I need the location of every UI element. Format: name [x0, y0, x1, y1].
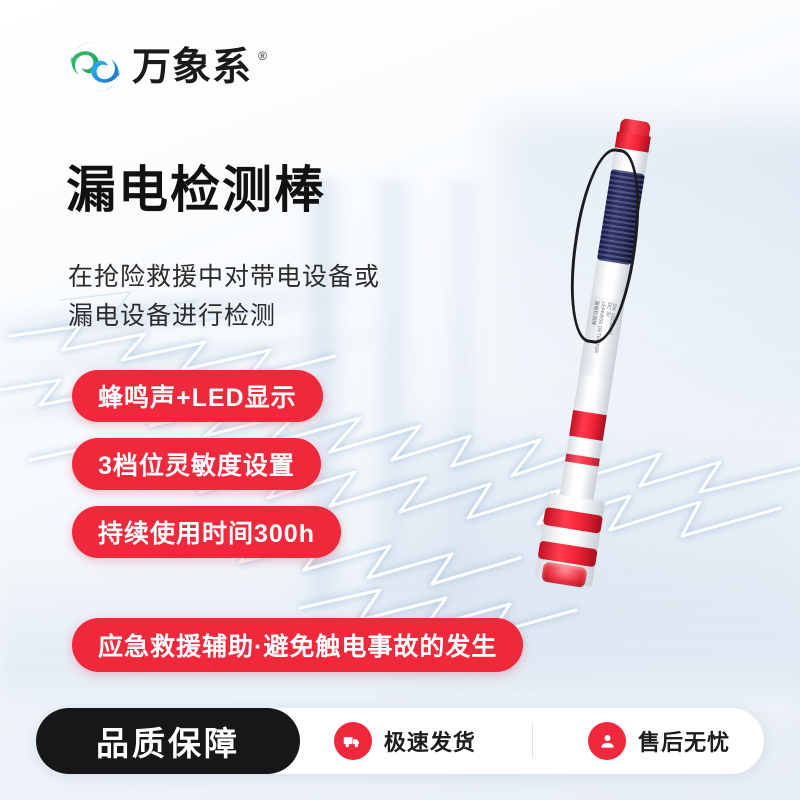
- bar-divider: [532, 724, 533, 758]
- page-subtitle-line1: 在抢险救援中对带电设备或: [68, 258, 380, 297]
- trust-items: 极速发货 售后无忧: [300, 722, 764, 760]
- background-pillar: [440, 180, 486, 610]
- page-subtitle-line2: 漏电设备进行检测: [68, 297, 380, 336]
- product-poster: 万象系 ® 漏电检测棒 在抢险救援中对带电设备或 漏电设备进行检测 蜂鸣声+LE…: [0, 0, 800, 800]
- product-image: 漏电检测棒 LEAKAGE DETECTOR DC 3V SN: 2023081…: [490, 110, 710, 690]
- registered-mark: ®: [258, 50, 268, 62]
- trust-item-support: 售后无忧: [588, 722, 730, 760]
- feature-pill-3: 持续使用时间300h: [72, 506, 341, 558]
- quality-badge: 品质保障: [36, 708, 300, 774]
- trust-item-shipping-label: 极速发货: [384, 725, 476, 757]
- trust-item-shipping: 极速发货: [334, 722, 476, 760]
- swirl-globe-logo-icon: [68, 40, 122, 94]
- background-pillar: [370, 180, 416, 610]
- headset-support-icon: [588, 722, 626, 760]
- feature-pill-1: 蜂鸣声+LED显示: [72, 370, 323, 422]
- wand-white-segment: [560, 461, 599, 500]
- trust-item-support-label: 售后无忧: [638, 725, 730, 757]
- truck-icon: [334, 722, 372, 760]
- page-title: 漏电检测棒: [66, 150, 326, 222]
- highlight-banner: 应急救援辅助·避免触电事故的发生: [72, 618, 523, 672]
- feature-pill-2: 3档位灵敏度设置: [72, 438, 321, 490]
- brand-name-text: 万象系: [132, 46, 252, 89]
- brand-logo: 万象系 ®: [68, 40, 252, 94]
- bottom-trust-bar: 品质保障 极速发货: [36, 708, 764, 774]
- wrist-strap: [561, 145, 650, 348]
- page-subtitle: 在抢险救援中对带电设备或 漏电设备进行检测: [68, 258, 380, 336]
- brand-name: 万象系 ®: [132, 48, 252, 87]
